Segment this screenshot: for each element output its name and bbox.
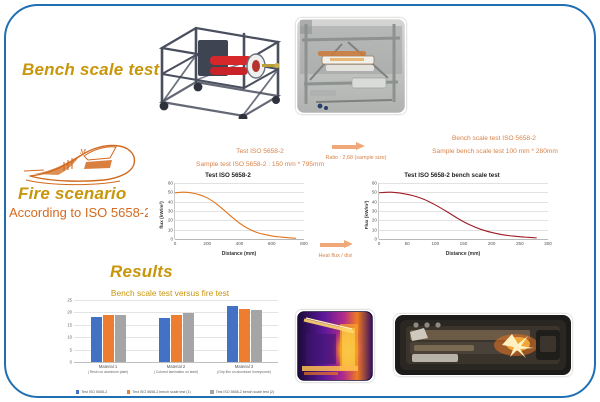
legend-color-swatch	[127, 390, 130, 393]
chart-x-axis-label: Distance (mm)	[378, 251, 548, 257]
chart-title: Bench scale test versus fire test	[56, 288, 284, 298]
chart-y-axis-label: flux (kW/m²)	[160, 201, 165, 228]
y-axis-tick: 25	[67, 298, 72, 303]
plot-area: 0102030405060050100150200250300	[378, 183, 548, 239]
bar[interactable]	[183, 313, 194, 362]
x-axis-tick: 800	[300, 241, 308, 246]
bar-group-label-line1: Material 3	[217, 364, 271, 369]
bar-group-label-line2: ( Resin on aluminum plate)	[88, 370, 129, 374]
grid-line	[74, 362, 278, 363]
chart-legend: Test ISO 5658-2Test ISO 5658-2 bench sca…	[66, 390, 284, 394]
bar[interactable]	[103, 315, 114, 362]
x-axis-tick: 50	[405, 241, 410, 246]
legend-label: Test ISO 5658-2 bench scale test (1)	[132, 390, 190, 394]
plot-area: 01020304050600200400600800	[174, 183, 304, 239]
data-series-curve	[175, 183, 304, 239]
results-bar-chart: Bench scale test versus fire test 051015…	[56, 288, 284, 394]
x-axis-tick: 200	[488, 241, 496, 246]
bar-group-label: Material 1( Resin on aluminum plate)	[88, 364, 129, 374]
right-sample-size-caption: Sample bench scale test 100 mm * 280mm	[400, 148, 590, 155]
x-axis-tick: 0	[174, 241, 177, 246]
y-axis-tick: 0	[170, 237, 173, 242]
y-axis-tick: 60	[168, 181, 173, 186]
x-axis-tick: 300	[544, 241, 552, 246]
x-axis-tick: 200	[203, 241, 211, 246]
bar-group-label: Material 3(Grip film on aluminum honeyco…	[217, 364, 271, 374]
legend-item[interactable]: Test ISO 5658-2 bench scale test (1)	[127, 390, 191, 394]
bar-group-label-line1: Material 1	[88, 364, 129, 369]
svg-text:M: M	[79, 148, 87, 156]
legend-label: Test ISO 5658-2	[81, 390, 107, 394]
right-arrow-icon	[320, 240, 354, 249]
left-test-title-caption: Test ISO 5658-2	[200, 148, 320, 155]
chart-x-axis-label: Distance (mm)	[174, 251, 304, 257]
bar[interactable]	[227, 306, 238, 362]
legend-item[interactable]: Test ISO 5658-2	[76, 390, 107, 394]
bar-group-label-line2: (Grip film on aluminum honeycomb)	[217, 370, 271, 374]
x-axis-tick: 250	[516, 241, 524, 246]
bench-scale-test-heading: Bench scale test	[22, 60, 159, 80]
x-axis-tick: 400	[236, 241, 244, 246]
plot-area: 0510152025Material 1( Resin on aluminum …	[74, 300, 278, 362]
slide-canvas: Bench scale test Fire scenario According…	[0, 0, 600, 402]
chart-title: Test ISO 5658-2	[148, 172, 308, 179]
bar-group-label-line1: Material 2	[154, 364, 198, 369]
legend-label: Test ISO 5658-2 bench scale test (2)	[216, 390, 274, 394]
results-heading: Results	[110, 262, 173, 282]
chart-y-axis-label: Flux (kW/m²)	[365, 201, 370, 230]
bar[interactable]	[115, 315, 126, 362]
y-axis-tick: 40	[372, 199, 377, 204]
bar[interactable]	[91, 317, 102, 362]
y-axis-tick: 20	[168, 218, 173, 223]
y-axis-tick: 40	[168, 199, 173, 204]
y-axis-tick: 15	[67, 322, 72, 327]
bench-scale-furnace-burning-sample-photo	[394, 314, 572, 376]
fire-scenario-subheading: According to ISO 5658-2	[9, 205, 151, 220]
y-axis-tick: 10	[372, 227, 377, 232]
y-axis-tick: 50	[168, 190, 173, 195]
y-axis-tick: 30	[168, 209, 173, 214]
y-axis-tick: 60	[372, 181, 377, 186]
left-sample-size-caption: Sample test ISO 5658-2 : 150 mm * 795mm	[180, 161, 340, 168]
right-test-title-caption: Bench scale test ISO 5658-2	[404, 135, 584, 142]
right-line-chart: Test ISO 5658-2 bench scale test Flux (k…	[352, 172, 552, 258]
thermal-infrared-fire-test-photo	[296, 310, 374, 382]
y-axis-tick: 10	[168, 227, 173, 232]
y-axis-tick: 5	[70, 347, 72, 352]
x-axis-tick: 0	[378, 241, 381, 246]
y-axis-tick: 0	[374, 237, 377, 242]
y-axis-tick: 30	[372, 209, 377, 214]
x-axis-tick: 100	[431, 241, 439, 246]
legend-item[interactable]: Test ISO 5658-2 bench scale test (2)	[210, 390, 274, 394]
bar[interactable]	[239, 309, 250, 362]
legend-color-swatch	[210, 390, 213, 393]
y-axis-tick: 20	[67, 310, 72, 315]
bench-scale-test-rig-cad-drawing	[140, 14, 285, 119]
left-line-chart: Test ISO 5658-2 flux (kW/m²) 01020304050…	[148, 172, 308, 258]
bar[interactable]	[251, 310, 262, 362]
bar-group: Material 1( Resin on aluminum plate)	[74, 300, 142, 362]
right-arrow-icon	[332, 142, 366, 151]
y-axis-tick: 20	[372, 218, 377, 223]
x-axis-tick: 150	[460, 241, 468, 246]
x-axis-tick: 600	[268, 241, 276, 246]
bar-group: Material 3(Grip film on aluminum honeyco…	[210, 300, 278, 362]
bar-group: Material 2( Colored lamination on steel)	[142, 300, 210, 362]
bar[interactable]	[159, 318, 170, 362]
bar[interactable]	[171, 315, 182, 362]
data-series-curve	[379, 183, 548, 239]
bar-group-label: Material 2( Colored lamination on steel)	[154, 364, 198, 374]
y-axis-tick: 0	[70, 360, 72, 365]
y-axis-tick: 10	[67, 335, 72, 340]
ratio-sample-size-caption: Ratio : 2,68 (sample size)	[318, 155, 394, 161]
legend-color-swatch	[76, 390, 79, 393]
bar-group-label-line2: ( Colored lamination on steel)	[154, 370, 198, 374]
y-axis-tick: 50	[372, 190, 377, 195]
bench-scale-test-rig-photo	[296, 18, 406, 114]
high-speed-train-illustration: M	[24, 136, 140, 188]
chart-title: Test ISO 5658-2 bench scale test	[352, 172, 552, 179]
